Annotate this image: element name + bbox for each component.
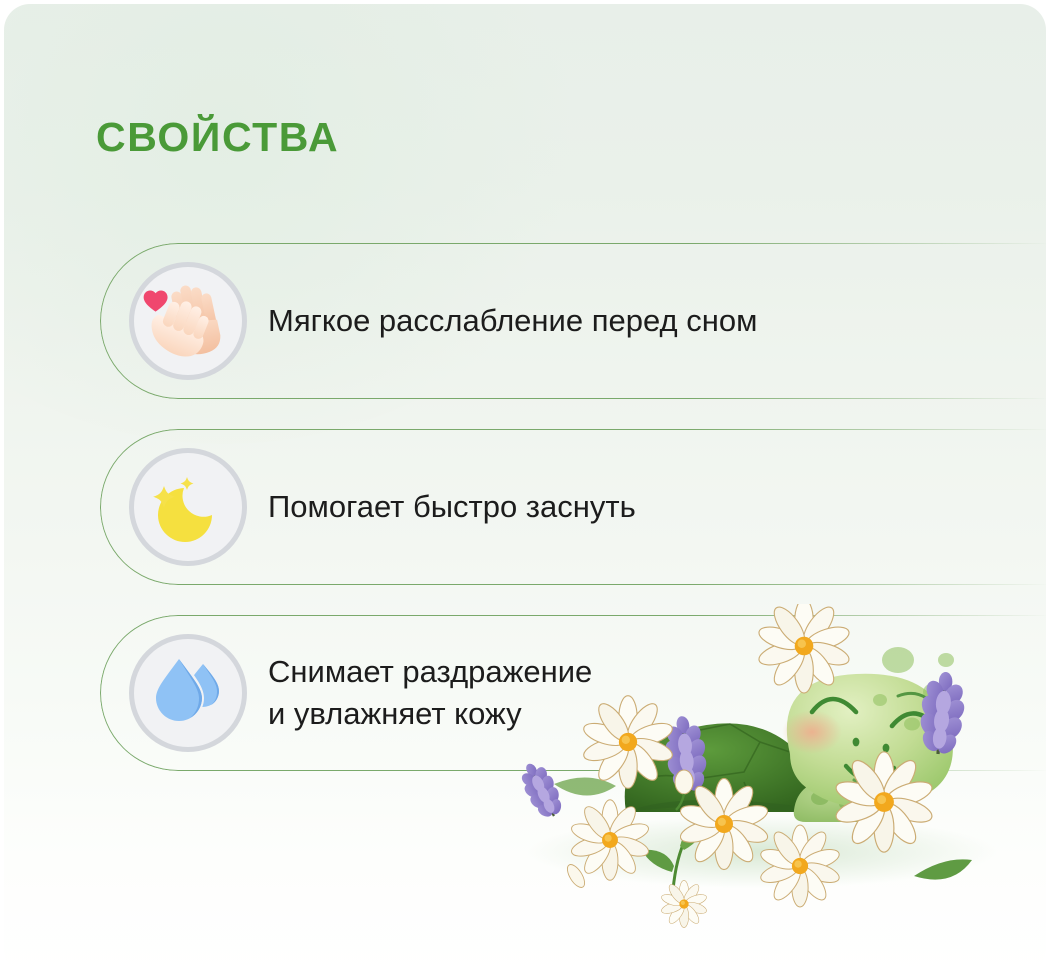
feature-item-fall-asleep[interactable]: Помогает быстро заснуть: [100, 429, 1046, 585]
feature-item-relaxation[interactable]: Мягкое расслабление перед сном: [100, 243, 1046, 399]
crescent-moon-with-stars-icon: [129, 448, 247, 566]
feature-label: Снимает раздражение и увлажняет кожу: [268, 615, 592, 771]
feature-label: Мягкое расслабление перед сном: [268, 243, 757, 399]
feature-label: Помогает быстро заснуть: [268, 429, 636, 585]
properties-card: СВОЙСТВА: [4, 4, 1046, 976]
massaging-hands-with-heart-icon: [129, 262, 247, 380]
water-droplets-icon: [129, 634, 247, 752]
feature-item-hydration[interactable]: Снимает раздражение и увлажняет кожу: [100, 615, 1046, 771]
features-list: Мягкое расслабление перед сном Помогает …: [4, 4, 1046, 976]
